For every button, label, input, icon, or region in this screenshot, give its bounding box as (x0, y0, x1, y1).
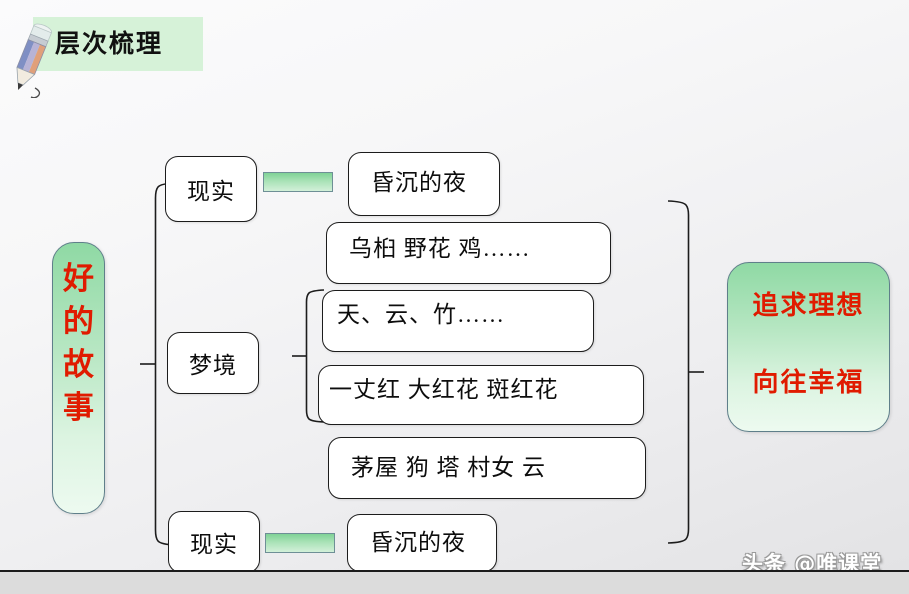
stage-label: 现实 (190, 525, 238, 559)
conclusion-line-2: 向往幸福 (728, 362, 889, 399)
main-topic-box: 好 的 故 事 (52, 242, 105, 514)
main-topic-char-1: 好 (53, 257, 104, 300)
stage-box-reality-top: 现实 (165, 156, 257, 222)
content-text: 天、云、竹…… (337, 295, 505, 329)
connector-rect-bottom (265, 533, 335, 553)
stage-box-reality-bottom: 现实 (168, 511, 260, 573)
main-topic-char-3: 故 (53, 343, 104, 386)
content-box-red-flowers: 一丈红 大红花 斑红花 (318, 365, 644, 425)
stage-label: 现实 (187, 172, 235, 206)
content-box-wujiu: 乌桕 野花 鸡…… (326, 222, 611, 284)
main-topic-char-2: 的 (53, 300, 104, 343)
content-text: 昏沉的夜 (370, 523, 466, 557)
stage-label: 梦境 (189, 346, 237, 380)
content-text: 一丈红 大红花 斑红花 (329, 370, 559, 404)
content-box-hut-dog-pagoda: 茅屋 狗 塔 村女 云 (328, 437, 646, 499)
bottom-band (0, 572, 909, 594)
conclusion-line-1: 追求理想 (728, 285, 889, 322)
main-topic-char-4: 事 (53, 386, 104, 429)
slide-canvas: 层次梳理 好 的 故 事 现实 梦境 现实 昏沉的夜 乌桕 野花 鸡…… 天、云… (0, 0, 909, 594)
content-box-dim-night-bottom: 昏沉的夜 (347, 514, 497, 572)
conclusion-box: 追求理想 向往幸福 (727, 262, 890, 432)
pencil-icon (2, 18, 60, 98)
content-text: 乌桕 野花 鸡…… (349, 229, 531, 263)
content-box-sky-cloud-bamboo: 天、云、竹…… (322, 290, 594, 352)
content-text: 茅屋 狗 塔 村女 云 (351, 448, 546, 482)
page-title: 层次梳理 (55, 22, 215, 66)
stage-box-dream: 梦境 (167, 332, 259, 394)
connector-rect-top (263, 172, 333, 192)
content-text: 昏沉的夜 (371, 163, 467, 197)
conclusion-bracket (664, 196, 722, 548)
content-box-dim-night-top: 昏沉的夜 (348, 152, 500, 216)
